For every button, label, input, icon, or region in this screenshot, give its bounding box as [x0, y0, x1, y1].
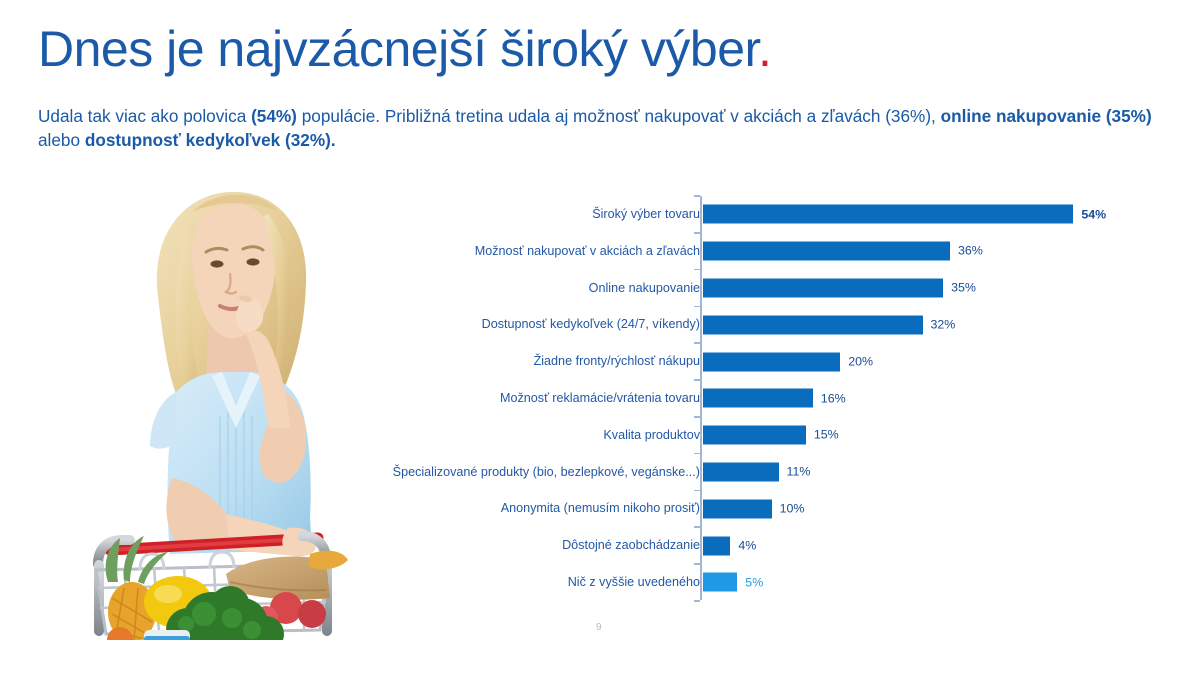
chart-bar-wrap: 16%: [703, 389, 846, 408]
title-period: .: [758, 21, 771, 77]
axis-tick: [694, 342, 700, 344]
chart-bar: [703, 462, 779, 481]
chart-value-label: 20%: [848, 355, 873, 367]
chart-value-label: 36%: [958, 245, 983, 257]
chart-bar-wrap: 5%: [703, 573, 763, 592]
chart-category-label: Dostupnosť kedykoľvek (24/7, víkendy): [380, 318, 700, 331]
chart-value-label: 15%: [814, 429, 839, 441]
axis-tick: [694, 600, 700, 602]
chart-bar-row: Nič z vyššie uvedeného5%: [370, 564, 1170, 601]
slide: Dnes je najvzácnejší široký výber. Udala…: [0, 0, 1200, 700]
chart-value-label: 4%: [738, 539, 756, 551]
chart-category-label: Anonymita (nemusím nikoho prosiť): [380, 502, 700, 515]
chart-rows: Široký výber tovaru54%Možnosť nakupovať …: [370, 196, 1170, 601]
chart-bar-row: Dostupnosť kedykoľvek (24/7, víkendy)32%: [370, 306, 1170, 343]
chart-category-label: Dôstojné zaobchádzanie: [380, 539, 700, 552]
chart-bar-wrap: 54%: [703, 205, 1106, 224]
chart-bar-wrap: 32%: [703, 315, 955, 334]
axis-tick: [694, 416, 700, 418]
chart-bar: [703, 389, 813, 408]
chart-category-label: Možnosť reklamácie/vrátenia tovaru: [380, 392, 700, 405]
subtitle-segment-5: dostupnosť kedykoľvek (32%).: [85, 130, 336, 150]
page-title: Dnes je najvzácnejší široký výber.: [38, 22, 771, 76]
chart-category-label: Široký výber tovaru: [380, 208, 700, 221]
chart-bar: [703, 242, 950, 261]
chart-bar: [703, 278, 943, 297]
chart-bar: [703, 573, 737, 592]
chart-bar-row: Dôstojné zaobchádzanie4%: [370, 527, 1170, 564]
axis-tick: [694, 195, 700, 197]
chart-bar-row: Možnosť reklamácie/vrátenia tovaru16%: [370, 380, 1170, 417]
chart-value-label: 11%: [787, 466, 811, 478]
horizontal-bar-chart: Široký výber tovaru54%Možnosť nakupovať …: [370, 196, 1170, 616]
axis-tick: [694, 269, 700, 271]
axis-tick: [694, 379, 700, 381]
chart-bar: [703, 536, 730, 555]
subtitle-segment-1: (54%): [251, 106, 297, 126]
chart-value-label: 54%: [1081, 208, 1106, 220]
chart-bar-wrap: 10%: [703, 499, 804, 518]
chart-bar-wrap: 36%: [703, 242, 983, 261]
chart-bar-wrap: 15%: [703, 426, 839, 445]
axis-tick: [694, 453, 700, 455]
subtitle-segment-3: online nakupovanie (35%): [941, 106, 1152, 126]
chart-bar-row: Špecializované produkty (bio, bezlepkové…: [370, 454, 1170, 491]
chart-bar-wrap: 4%: [703, 536, 756, 555]
subtitle-segment-4: alebo: [38, 130, 85, 150]
axis-tick: [694, 490, 700, 492]
chart-value-label: 32%: [931, 319, 956, 331]
chart-bar: [703, 426, 806, 445]
subtitle-segment-2: populácie. Približná tretina udala aj mo…: [297, 106, 941, 126]
chart-bar: [703, 315, 923, 334]
chart-bar-row: Možnosť nakupovať v akciách a zľavách36%: [370, 233, 1170, 270]
chart-bar: [703, 352, 840, 371]
woman-with-shopping-cart-photo: [80, 178, 392, 640]
chart-category-label: Nič z vyššie uvedeného: [380, 576, 700, 589]
page-title-text: Dnes je najvzácnejší široký výber: [38, 21, 758, 77]
subtitle-segment-0: Udala tak viac ako polovica: [38, 106, 251, 126]
chart-bar-wrap: 20%: [703, 352, 873, 371]
axis-tick: [694, 232, 700, 234]
chart-category-label: Žiadne fronty/rýchlosť nákupu: [380, 355, 700, 368]
chart-category-label: Špecializované produkty (bio, bezlepkové…: [380, 466, 700, 479]
subtitle: Udala tak viac ako polovica (54%) populá…: [38, 104, 1173, 153]
chart-bar-row: Široký výber tovaru54%: [370, 196, 1170, 233]
chart-value-label: 10%: [780, 503, 805, 515]
chart-value-label: 5%: [745, 576, 763, 588]
chart-category-label: Kvalita produktov: [380, 429, 700, 442]
chart-value-label: 35%: [951, 282, 976, 294]
axis-tick: [694, 563, 700, 565]
axis-tick: [694, 526, 700, 528]
chart-bar: [703, 499, 772, 518]
chart-bar: [703, 205, 1073, 224]
chart-category-label: Možnosť nakupovať v akciách a zľavách: [380, 245, 700, 258]
chart-bar-row: Anonymita (nemusím nikoho prosiť)10%: [370, 490, 1170, 527]
chart-bar-wrap: 11%: [703, 462, 810, 481]
chart-bar-wrap: 35%: [703, 278, 976, 297]
axis-tick: [694, 306, 700, 308]
chart-value-label: 16%: [821, 392, 846, 404]
chart-category-label: Online nakupovanie: [380, 282, 700, 295]
chart-bar-row: Kvalita produktov15%: [370, 417, 1170, 454]
chart-bar-row: Žiadne fronty/rýchlosť nákupu20%: [370, 343, 1170, 380]
page-number: 9: [596, 622, 602, 633]
chart-bar-row: Online nakupovanie35%: [370, 270, 1170, 307]
